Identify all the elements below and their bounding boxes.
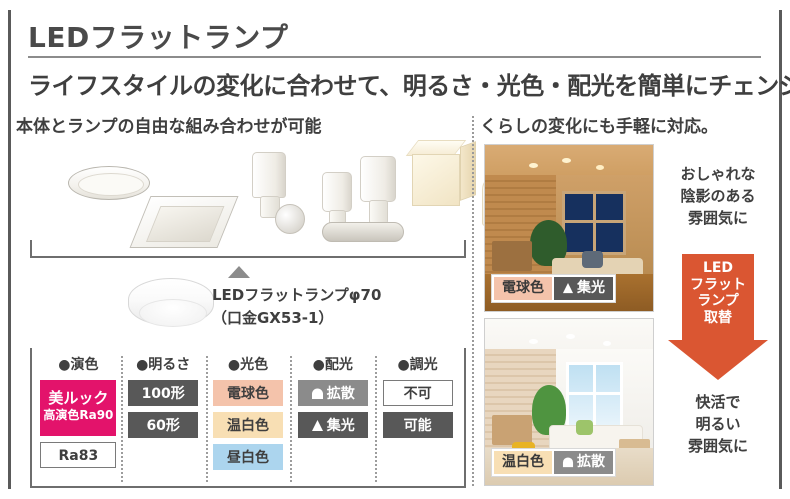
- window-mullion: [593, 191, 596, 254]
- chip-diffuse-label: 拡散: [327, 386, 355, 402]
- arrow-line2: フラット: [668, 277, 768, 294]
- double-spotlight-neck-b-icon: [369, 200, 388, 224]
- chip-daylight-white: 昼白色: [213, 444, 283, 470]
- badge-focus: 集光: [554, 277, 613, 300]
- right-section-heading: くらしの変化にも手軽に対応。: [480, 112, 780, 137]
- spec-column-rendering: ●演色 美ルック 高演色Ra90 Ra83: [36, 354, 121, 480]
- page-subtitle: ライフスタイルの変化に合わせて、明るさ・光色・配光を簡単にチェンジ: [28, 66, 790, 101]
- spec-column-header: ●明るさ: [136, 354, 190, 374]
- chip-dimming-yes: 可能: [383, 412, 453, 438]
- diffuse-dome-icon: [562, 453, 574, 476]
- spec-column-header: ●調光: [397, 354, 437, 374]
- lamp-caption: LEDフラットランプφ70 （口金GX53-1）: [212, 284, 381, 329]
- caption-line: おしゃれな: [658, 164, 778, 186]
- fixture-illustrations: [30, 150, 470, 250]
- chip-bi-look: 美ルック 高演色Ra90: [40, 380, 116, 436]
- lamp-replace-arrow: LED フラット ランプ 取替: [668, 254, 768, 380]
- chip-neutral-white: 温白色: [213, 412, 283, 438]
- chip-bi-look-line2: 高演色Ra90: [41, 408, 115, 423]
- arrow-line4: 取替: [668, 310, 768, 327]
- left-column: 本体とランプの自由な組み合わせが可能 LEDフラットランプφ70 （口金GX53…: [16, 112, 468, 488]
- panel-left-border: [8, 10, 11, 489]
- fixture-group-bracket: [30, 240, 466, 258]
- spec-column-header: ●光色: [228, 354, 268, 374]
- chip-60-type: 60形: [128, 412, 198, 438]
- badge-focus-label: 集光: [577, 280, 605, 296]
- column-divider: [472, 116, 474, 486]
- lamp-caption-line2: （口金GX53-1）: [212, 307, 381, 330]
- cushion: [582, 251, 602, 268]
- badge-diffuse-label: 拡散: [577, 454, 605, 470]
- chip-warm-white: 電球色: [213, 380, 283, 406]
- double-spotlight-head-b-icon: [360, 156, 396, 202]
- chip-focus-label: 集光: [327, 418, 355, 434]
- badge-warm-white: 電球色: [494, 277, 552, 300]
- spec-column-light-color: ●光色 電球色 温白色 昼白色: [206, 354, 291, 480]
- badge-neutral-white: 温白色: [494, 451, 552, 474]
- cushion: [576, 420, 593, 435]
- sideboard: [492, 415, 532, 445]
- sideboard: [492, 241, 532, 271]
- focus-cone-icon: [311, 415, 324, 441]
- spec-table-inner: ●演色 美ルック 高演色Ra90 Ra83 ●明るさ 100形 60形 ●光色 …: [32, 348, 464, 486]
- focus-cone-icon: [562, 279, 574, 302]
- downlight-spot: [529, 339, 538, 344]
- double-spotlight-bar-icon: [322, 222, 404, 242]
- downlight-spot: [596, 165, 604, 170]
- downlight-spot: [566, 334, 575, 339]
- photo-warm-focused: 電球色 集光: [484, 144, 654, 312]
- caption-line: 雰囲気に: [658, 436, 778, 458]
- spec-column-brightness: ●明るさ 100形 60形: [121, 354, 206, 480]
- photo-bottom-caption: 快活で 明るい 雰囲気に: [658, 392, 778, 457]
- caption-line: 陰影のある: [658, 186, 778, 208]
- arrow-line1: LED: [668, 260, 768, 277]
- caption-line: 快活で: [658, 392, 778, 414]
- arrow-label: LED フラット ランプ 取替: [668, 260, 768, 326]
- cube-shade-front-icon: [412, 154, 460, 206]
- single-spotlight-base-icon: [275, 204, 305, 234]
- round-downlight-icon: [68, 166, 150, 200]
- spec-column-header: ●配光: [313, 354, 353, 374]
- chip-bi-look-line1: 美ルック: [41, 389, 115, 408]
- chip-dimming-no: 不可: [383, 380, 453, 406]
- photo-top-badges: 電球色 集光: [491, 274, 616, 303]
- downlight-spot: [603, 341, 611, 346]
- title-divider: [28, 56, 761, 58]
- badge-diffuse: 拡散: [554, 451, 613, 474]
- lamp-caption-line1: LEDフラットランプφ70: [212, 284, 381, 307]
- caption-line: 明るい: [658, 414, 778, 436]
- page-title: LEDフラットランプ: [28, 16, 288, 56]
- chip-ra83: Ra83: [40, 442, 116, 468]
- arrow-line3: ランプ: [668, 293, 768, 310]
- chip-diffuse: 拡散: [298, 380, 368, 406]
- spec-column-header: ●演色: [58, 354, 98, 374]
- single-spotlight-head-icon: [252, 152, 286, 198]
- window-transom: [562, 220, 626, 223]
- left-section-heading: 本体とランプの自由な組み合わせが可能: [16, 112, 468, 137]
- chip-100-type: 100形: [128, 380, 198, 406]
- spec-column-dimming: ●調光 不可 可能: [375, 354, 460, 480]
- up-arrow-icon: [228, 266, 250, 278]
- photo-neutral-diffuse: 温白色 拡散: [484, 318, 654, 486]
- double-spotlight-head-a-icon: [322, 172, 352, 212]
- spec-table: ●演色 美ルック 高演色Ra90 Ra83 ●明るさ 100形 60形 ●光色 …: [30, 348, 466, 488]
- photo-top-caption: おしゃれな 陰影のある 雰囲気に: [658, 164, 778, 229]
- window-transom: [566, 392, 623, 395]
- arrow-head-icon: [668, 340, 768, 380]
- caption-line: 雰囲気に: [658, 208, 778, 230]
- diffuse-dome-icon: [311, 383, 324, 409]
- chip-focus: 集光: [298, 412, 368, 438]
- lamp-callout: LEDフラットランプφ70 （口金GX53-1）: [32, 264, 472, 344]
- flat-lamp-icon: [128, 278, 214, 326]
- product-info-panel: LEDフラットランプ ライフスタイルの変化に合わせて、明るさ・光色・配光を簡単に…: [0, 0, 790, 499]
- spec-column-distribution: ●配光 拡散 集光: [290, 354, 375, 480]
- window-mullion: [593, 362, 596, 428]
- photo-bottom-badges: 温白色 拡散: [491, 448, 616, 477]
- right-column: くらしの変化にも手軽に対応。 電球色: [480, 112, 780, 488]
